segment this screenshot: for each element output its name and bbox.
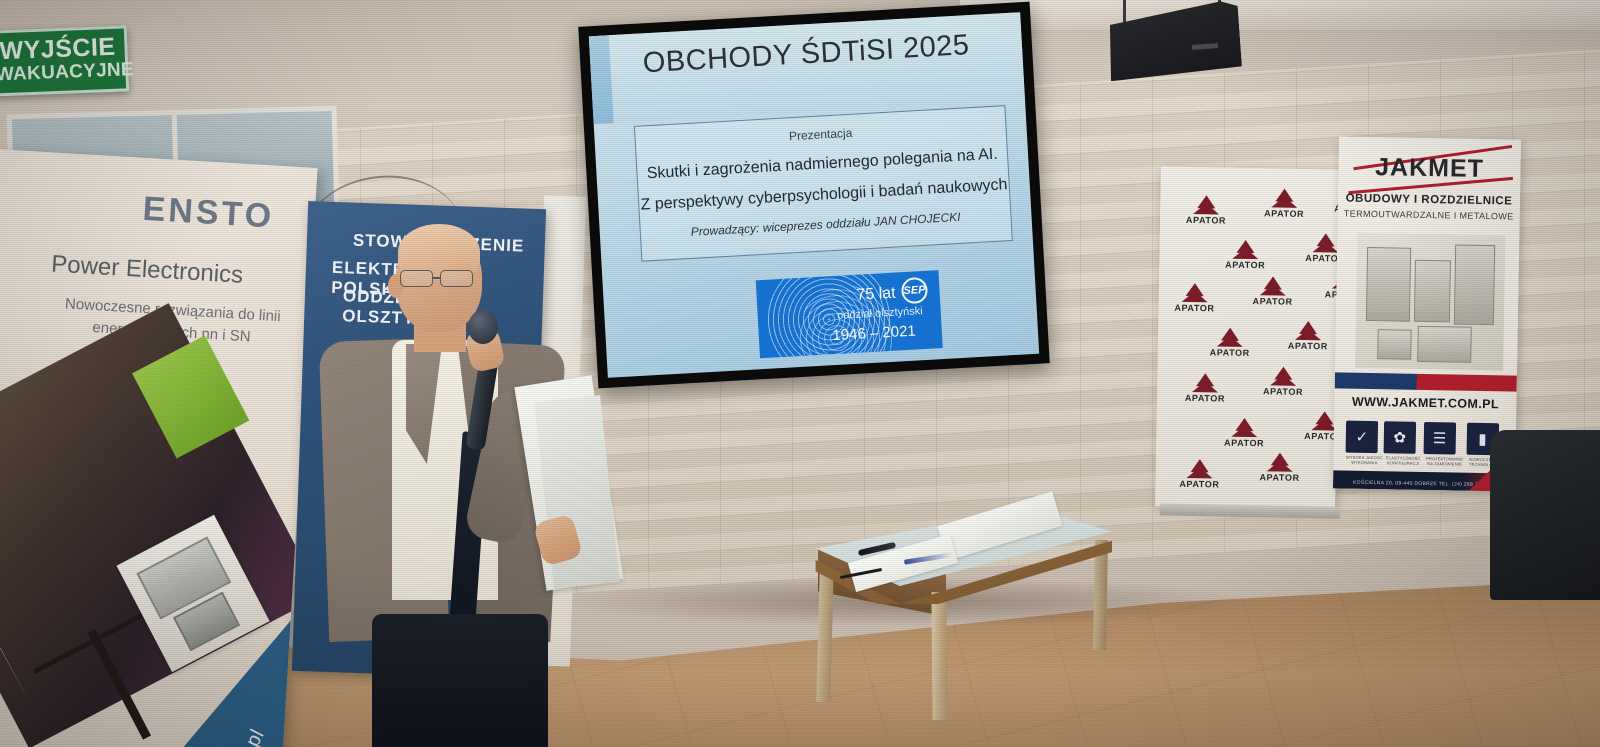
apator-logo-tile: APATOR xyxy=(1171,459,1228,490)
apator-wordmark: APATOR xyxy=(1297,253,1341,264)
cabinet-3 xyxy=(1454,244,1495,325)
projection-screen-frame: OBCHODY ŚDTiSI 2025 Prezentacja Skutki i… xyxy=(578,2,1050,389)
apator-wordmark: APATOR xyxy=(1245,296,1301,307)
lens-right xyxy=(440,270,473,287)
exit-sign-line2: EWAKUACYJNE xyxy=(0,59,134,88)
slide-line-1: Skutki i zagrożenia nadmiernego polegani… xyxy=(637,145,1007,184)
presentation-room-photo: WYJŚCIE EWAKUACYJNE ENSTO Power Electron… xyxy=(0,0,1600,747)
apator-triangle-icon-base xyxy=(1270,374,1296,385)
apator-triangle-icon-base xyxy=(1260,284,1286,295)
sep-emblem-icon: SEP xyxy=(901,277,928,304)
banner-ensto: ENSTO Power Electronics Nowoczesne rozwi… xyxy=(0,149,318,747)
apator-logo-tile: APATOR xyxy=(1280,321,1337,352)
apator-logo-tile: APATOR xyxy=(1178,195,1235,226)
apator-wordmark: APATOR xyxy=(1216,437,1272,448)
table-leg-middle xyxy=(931,592,947,720)
slide-label: Prezentacja xyxy=(636,117,1006,152)
apator-logo-tile: APATOR xyxy=(1177,373,1234,404)
emergency-exit-sign: WYJŚCIE EWAKUACYJNE xyxy=(0,25,129,96)
jakmet-feature-2: ✿ELASTYCZNOŚĆ KONFIGURACJI xyxy=(1383,421,1424,466)
apator-wordmark: APATOR xyxy=(1217,259,1273,270)
apator-logo-tile: APATOR xyxy=(1297,233,1341,264)
apator-logo-tile: APATOR xyxy=(1166,283,1223,314)
glasses-bridge xyxy=(433,277,440,279)
slide-line-2: Z perspektywy cyberpsychologii i badań n… xyxy=(639,176,1009,215)
feature-icon: ✓ xyxy=(1346,421,1379,454)
jakmet-feature-1: ✓WYSOKA JAKOŚĆ WYKONANIA xyxy=(1345,421,1384,466)
apator-wordmark: APATOR xyxy=(1171,479,1227,490)
banner-apator: APATORAPATORAPATORAPATORAPATORAPATORAPAT… xyxy=(1155,166,1341,509)
cabinet-1 xyxy=(1366,247,1411,322)
ensto-headline: Power Electronics xyxy=(50,250,301,293)
feature-icon: ☰ xyxy=(1423,422,1456,455)
jakmet-product-art xyxy=(1355,233,1505,371)
apator-logo-tile: APATOR xyxy=(1202,327,1259,358)
ensto-logo: ENSTO xyxy=(142,190,276,237)
microphone-head-icon xyxy=(468,310,498,344)
apator-wordmark: APATOR xyxy=(1202,347,1258,358)
apator-triangle-icon-base xyxy=(1182,291,1208,302)
feature-label: PROJEKTOWANIE NA ZAMÓWIENIE xyxy=(1423,456,1466,467)
jakmet-headline: OBUDOWY I ROZDZIELNICE xyxy=(1338,192,1520,207)
slide-host-line: Prowadzący: wiceprezes oddziału JAN CHOJ… xyxy=(641,207,1011,242)
feature-icon: ✿ xyxy=(1383,421,1416,454)
apator-logo-tile: APATOR xyxy=(1251,452,1308,483)
ensto-corner-triangle xyxy=(140,599,302,747)
apator-logo-tile: APATOR xyxy=(1245,276,1302,307)
apator-triangle-icon-base xyxy=(1232,248,1258,259)
ceiling-strip xyxy=(960,0,1600,30)
jakmet-footer-text: KOŚCIELNA 20, 09-440 DOBRZE TEL. (24) 26… xyxy=(1333,479,1489,488)
jakmet-subline: TERMOUTWARDZALNE I METALOWE xyxy=(1338,208,1520,221)
jakmet-url: WWW.JAKMET.COM.PL xyxy=(1334,394,1516,411)
slide-title: OBCHODY ŚDTiSI 2025 xyxy=(590,26,1023,83)
cabinet-4 xyxy=(1377,329,1412,360)
apator-logo-tile: APATOR xyxy=(1217,239,1274,270)
apator-wordmark: APATOR xyxy=(1251,472,1307,483)
apator-wordmark: APATOR xyxy=(1178,215,1234,226)
apator-triangle-icon-base xyxy=(1271,196,1297,207)
feature-label: WYSOKA JAKOŚĆ WYKONANIA xyxy=(1345,455,1383,466)
apator-wordmark: APATOR xyxy=(1166,303,1222,314)
apator-triangle-icon-base xyxy=(1187,467,1213,478)
logo-years: 75 lat xyxy=(856,285,896,305)
apator-triangle-icon-base xyxy=(1231,426,1257,437)
apator-triangle-icon-base xyxy=(1217,335,1243,346)
logo-span: 1946 – 2021 xyxy=(832,323,916,345)
apator-wordmark: APATOR xyxy=(1177,393,1233,404)
apator-logo-tile: APATOR xyxy=(1256,188,1313,219)
slide-content-box: Prezentacja Skutki i zagrożenia nadmiern… xyxy=(634,105,1013,262)
utility-pole xyxy=(87,629,151,740)
presenter xyxy=(318,222,618,747)
apator-logo-tile: APATOR xyxy=(1216,417,1273,448)
dark-chair xyxy=(1490,430,1600,600)
cabinet-5 xyxy=(1417,326,1472,363)
apator-wordmark: APATOR xyxy=(1256,208,1312,219)
jakmet-feature-3: ☰PROJEKTOWANIE NA ZAMÓWIENIE xyxy=(1423,422,1467,467)
jakmet-color-bar xyxy=(1335,372,1517,391)
apator-triangle-icon-base xyxy=(1267,460,1293,471)
apator-triangle-icon-base xyxy=(1192,381,1218,392)
apator-triangle-icon-base xyxy=(1193,203,1219,214)
glasses-icon xyxy=(400,270,484,287)
sep-anniversary-logo: SEP 75 lat oddział olsztyński 1946 – 202… xyxy=(756,270,943,358)
lightning-bolt-icon xyxy=(0,498,31,703)
feature-label: ELASTYCZNOŚĆ KONFIGURACJI xyxy=(1383,455,1423,466)
trousers xyxy=(372,614,548,747)
apator-wordmark: APATOR xyxy=(1280,341,1336,352)
apator-triangle-icon-base xyxy=(1295,329,1321,340)
apator-logo-tile: APATOR xyxy=(1255,366,1312,397)
lens-left xyxy=(400,270,433,287)
cabinet-2 xyxy=(1414,260,1451,323)
apator-wordmark: APATOR xyxy=(1255,386,1311,397)
apator-triangle-icon-base xyxy=(1313,241,1339,252)
projected-slide: OBCHODY ŚDTiSI 2025 Prezentacja Skutki i… xyxy=(589,12,1039,378)
